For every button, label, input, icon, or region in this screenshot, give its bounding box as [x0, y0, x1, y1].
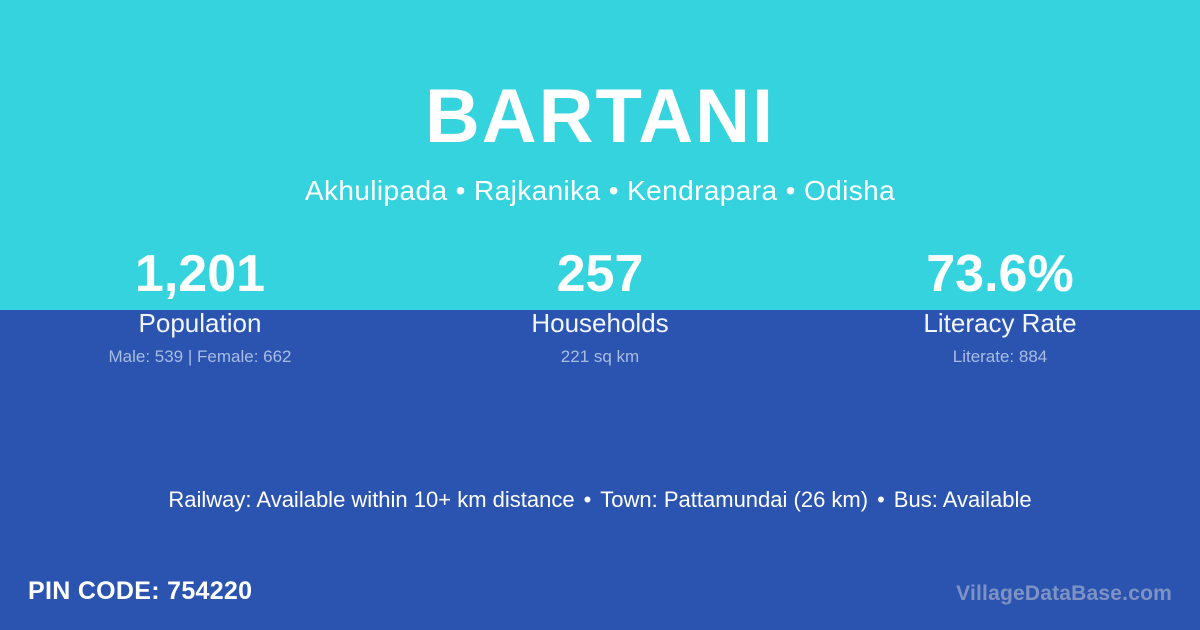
stat-households: 257 Households 221 sq km	[400, 245, 800, 367]
stat-value: 257	[400, 245, 800, 303]
card-footer: PIN CODE: 754220 VillageDataBase.com	[0, 572, 1200, 616]
town-info: Town: Pattamundai (26 km)	[600, 487, 868, 512]
stat-sublabel: Literate: 884	[800, 347, 1200, 367]
pin-code: PIN CODE: 754220	[28, 576, 252, 606]
card-header: BARTANI Akhulipada • Rajkanika • Kendrap…	[0, 0, 1200, 205]
statistics-row: 1,201 Population Male: 539 | Female: 662…	[0, 245, 1200, 367]
stat-value: 73.6%	[800, 245, 1200, 303]
bullet-separator-icon: •	[575, 485, 601, 515]
railway-info: Railway: Available within 10+ km distanc…	[168, 487, 574, 512]
stat-label: Households	[400, 308, 800, 338]
site-branding: VillageDataBase.com	[956, 581, 1172, 607]
bus-info: Bus: Available	[894, 487, 1032, 512]
infrastructure-line: Railway: Available within 10+ km distanc…	[0, 485, 1200, 515]
stat-label: Literacy Rate	[800, 308, 1200, 338]
village-info-card: BARTANI Akhulipada • Rajkanika • Kendrap…	[0, 0, 1200, 630]
stat-sublabel: 221 sq km	[400, 347, 800, 367]
stat-population: 1,201 Population Male: 539 | Female: 662	[0, 245, 400, 367]
bullet-separator-icon: •	[868, 485, 894, 515]
stat-literacy-rate: 73.6% Literacy Rate Literate: 884	[800, 245, 1200, 367]
page-title: BARTANI	[0, 0, 1200, 155]
stat-sublabel: Male: 539 | Female: 662	[0, 347, 400, 367]
stat-label: Population	[0, 308, 400, 338]
stat-value: 1,201	[0, 245, 400, 303]
location-breadcrumb: Akhulipada • Rajkanika • Kendrapara • Od…	[0, 155, 1200, 205]
